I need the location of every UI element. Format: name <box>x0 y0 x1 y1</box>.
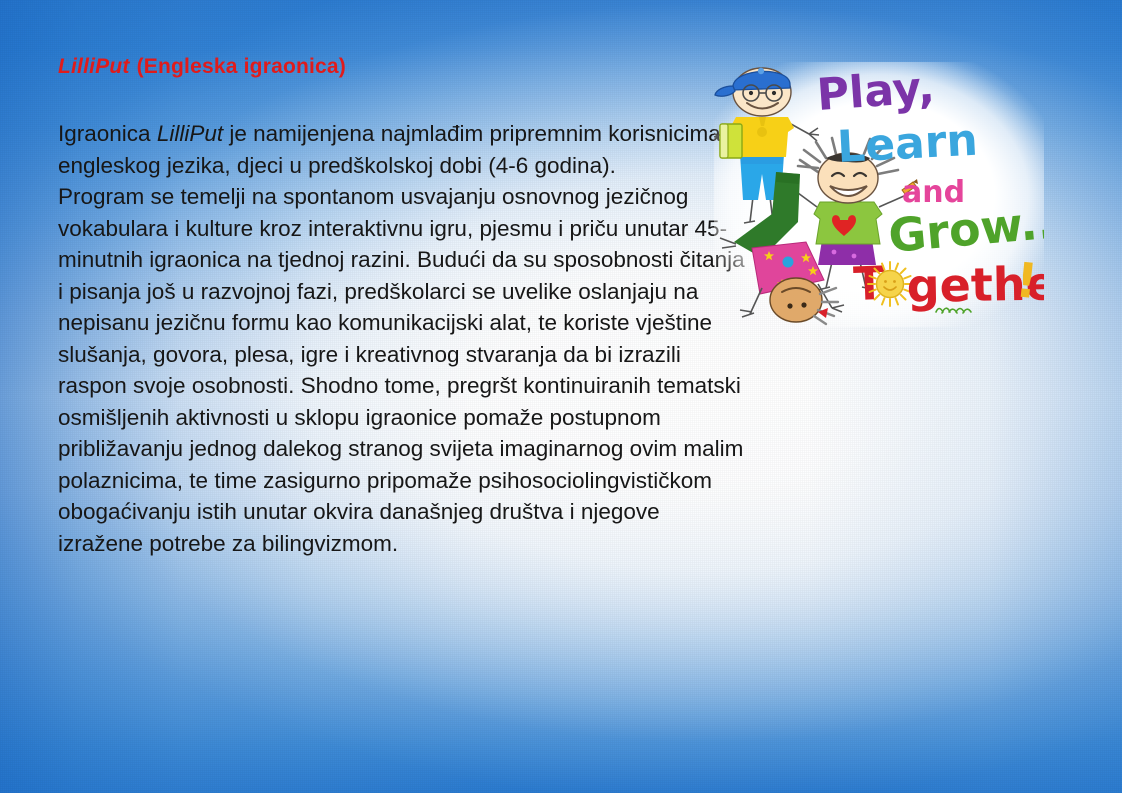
body-text: Igraonica LilliPut je namijenjena najmla… <box>58 118 748 559</box>
title-subtitle: (Engleska igraonica) <box>137 55 346 78</box>
book-icon <box>720 124 742 158</box>
sun-icon <box>868 262 912 306</box>
page-title: LilliPut(Engleska igraonica) <box>58 55 346 79</box>
slide-canvas: LilliPut(Engleska igraonica) Igraonica L… <box>0 0 1122 793</box>
clipart-play-learn-grow-together: Play, Learn and Grow... T <box>714 62 1044 327</box>
title-program-name: LilliPut <box>58 55 130 78</box>
program-text: Program se temelji na spontanom usvajanj… <box>58 184 745 556</box>
word-together-group: T gether ! <box>852 252 1044 313</box>
word-learn: Learn <box>836 115 979 173</box>
slide-content-layer: LilliPut(Engleska igraonica) Igraonica L… <box>0 0 1122 793</box>
child-boy-with-book <box>714 68 819 223</box>
intro-emphasis: LilliPut <box>157 121 223 146</box>
paragraph-program: Program se temelji na spontanom usvajanj… <box>58 181 748 559</box>
clipart-illustration: Play, Learn and Grow... T <box>714 62 1044 327</box>
paragraph-intro: Igraonica LilliPut je namijenjena najmla… <box>58 118 748 181</box>
intro-lead: Igraonica <box>58 121 157 146</box>
word-play: Play, <box>815 62 936 121</box>
